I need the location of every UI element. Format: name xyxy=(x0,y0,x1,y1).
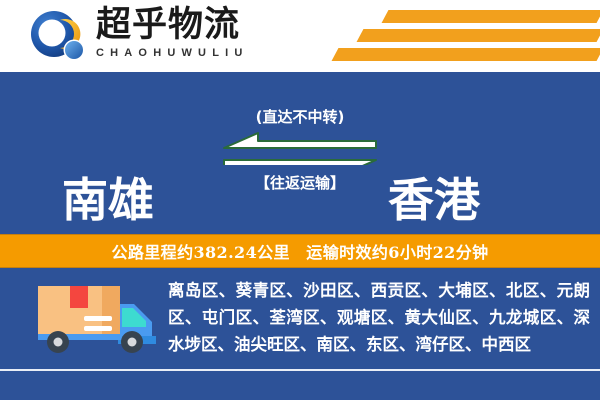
brand-wordmark: 超乎物流 CHAOHUWULIU xyxy=(96,6,296,60)
header: 超乎物流 CHAOHUWULIU xyxy=(0,0,600,72)
route-arrow-block: (直达不中转) 【往返运输】 xyxy=(210,108,390,192)
direct-service-note: (直达不中转) xyxy=(210,108,390,126)
origin-city: 南雄 xyxy=(62,175,154,225)
destination-city: 香港 xyxy=(388,175,480,225)
delivery-truck-icon xyxy=(22,278,158,360)
coverage-districts-text: 离岛区、葵青区、沙田区、西贡区、大埔区、北区、元朗区、屯门区、荃湾区、观塘区、黄… xyxy=(168,277,590,358)
distance-text: 公路里程约382.24公里 运输时效约6小时22分钟 xyxy=(111,239,488,263)
logistics-route-poster: 超乎物流 CHAOHUWULIU 南雄 (直达不中转) 【往返运输】 香港 公路… xyxy=(0,0,600,400)
stripe-2 xyxy=(357,29,600,42)
stripe-3 xyxy=(332,48,600,61)
stripe-1 xyxy=(382,10,600,23)
roundtrip-note: 【往返运输】 xyxy=(210,174,390,192)
decorative-stripes xyxy=(300,10,600,66)
route-panel: 南雄 (直达不中转) 【往返运输】 香港 xyxy=(0,72,600,234)
brand-name-cn: 超乎物流 xyxy=(96,6,296,44)
distance-bar: 公路里程约382.24公里 运输时效约6小时22分钟 xyxy=(0,234,600,268)
coverage-panel: 离岛区、葵青区、沙田区、西贡区、大埔区、北区、元朗区、屯门区、荃湾区、观塘区、黄… xyxy=(0,268,600,369)
brand-name-en: CHAOHUWULIU xyxy=(96,46,296,60)
footer-strip xyxy=(0,371,600,400)
double-headed-arrow-icon xyxy=(210,129,390,170)
circular-q-logo-icon xyxy=(24,8,96,66)
